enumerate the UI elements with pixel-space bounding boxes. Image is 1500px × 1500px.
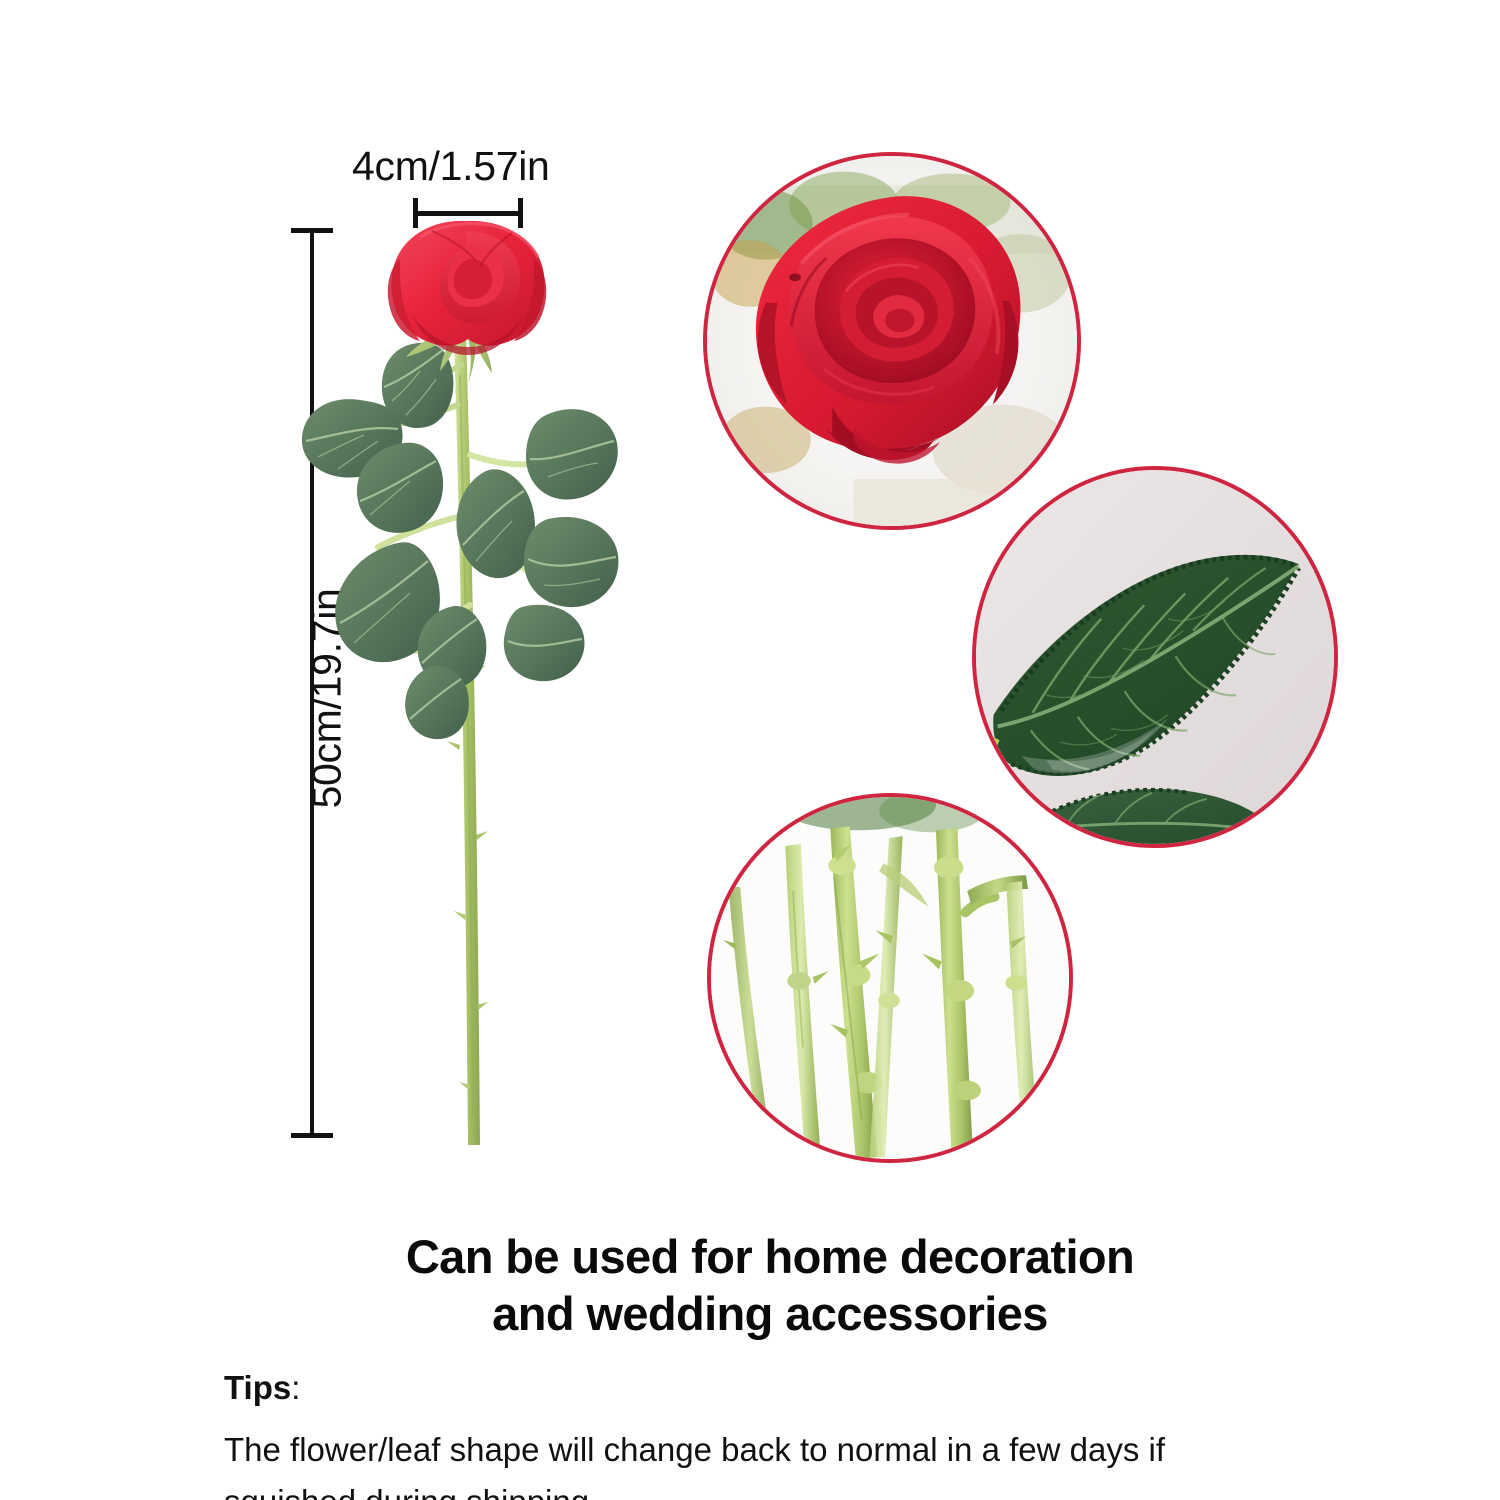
tips-section: Tips: The flower/leaf shape will change …: [224, 1366, 1294, 1500]
product-infographic: 4cm/1.57in 50cm/19.7in: [0, 0, 1500, 1500]
headline-line-2: and wedding accessories: [150, 1285, 1390, 1342]
tips-title-word: Tips: [224, 1369, 291, 1406]
tips-title: Tips:: [224, 1366, 1294, 1411]
rose-bloom-closeup: [703, 152, 1081, 530]
rose-product-image: [300, 215, 640, 1145]
marketing-headline: Can be used for home decoration and wedd…: [150, 1228, 1390, 1343]
tips-body-line-1: The flower/leaf shape will change back t…: [224, 1424, 1294, 1476]
tips-title-colon: :: [291, 1369, 300, 1406]
stem-closeup: [707, 793, 1073, 1163]
leaf-closeup: [972, 466, 1338, 848]
tips-body: The flower/leaf shape will change back t…: [224, 1424, 1294, 1500]
headline-line-1: Can be used for home decoration: [150, 1228, 1390, 1285]
width-dimension-label: 4cm/1.57in: [352, 143, 550, 190]
tips-body-line-2: squished during shipping.: [224, 1476, 1294, 1500]
